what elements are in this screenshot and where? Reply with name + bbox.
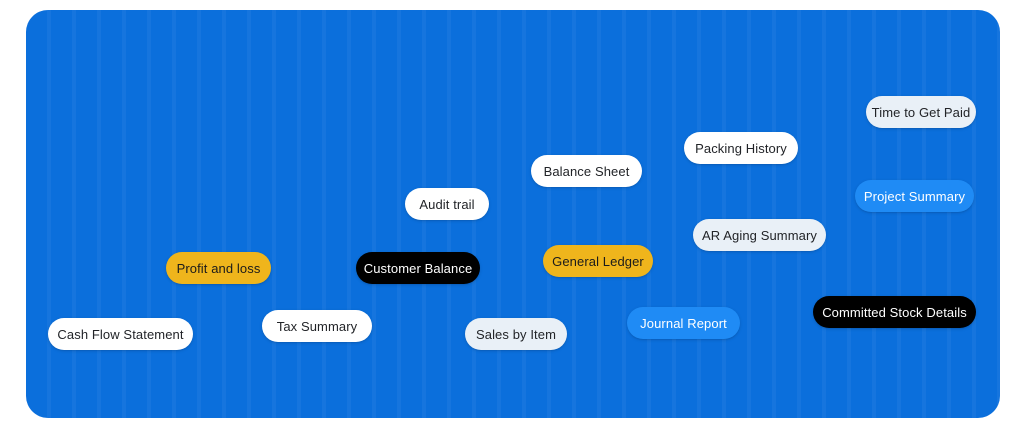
report-pill-journal-report[interactable]: Journal Report [627,307,740,339]
reports-tag-cloud-panel: Time to Get PaidPacking HistoryBalance S… [26,10,1000,418]
report-pill-committed-stock-details[interactable]: Committed Stock Details [813,296,976,328]
report-pill-label: AR Aging Summary [702,229,817,242]
report-pill-tax-summary[interactable]: Tax Summary [262,310,372,342]
report-pill-label: Project Summary [864,190,965,203]
report-pill-balance-sheet[interactable]: Balance Sheet [531,155,642,187]
report-pill-label: Time to Get Paid [872,106,971,119]
report-pill-ar-aging-summary[interactable]: AR Aging Summary [693,219,826,251]
report-pill-label: Customer Balance [364,262,473,275]
report-pill-profit-and-loss[interactable]: Profit and loss [166,252,271,284]
screenshot-canvas: Time to Get PaidPacking HistoryBalance S… [0,0,1024,428]
report-pill-label: Tax Summary [277,320,358,333]
report-pill-cash-flow-statement[interactable]: Cash Flow Statement [48,318,193,350]
panel-stripe-pattern [26,10,1000,418]
report-pill-time-to-get-paid[interactable]: Time to Get Paid [866,96,976,128]
report-pill-label: Sales by Item [476,328,556,341]
report-pill-sales-by-item[interactable]: Sales by Item [465,318,567,350]
report-pill-packing-history[interactable]: Packing History [684,132,798,164]
report-pill-label: Packing History [695,142,787,155]
report-pill-project-summary[interactable]: Project Summary [855,180,974,212]
report-pill-label: Balance Sheet [544,165,630,178]
report-pill-customer-balance[interactable]: Customer Balance [356,252,480,284]
report-pill-audit-trail[interactable]: Audit trail [405,188,489,220]
report-pill-general-ledger[interactable]: General Ledger [543,245,653,277]
report-pill-label: Cash Flow Statement [57,328,183,341]
report-pill-label: Profit and loss [177,262,261,275]
report-pill-label: Audit trail [419,198,474,211]
report-pill-label: Journal Report [640,317,727,330]
report-pill-label: General Ledger [552,255,644,268]
report-pill-label: Committed Stock Details [822,306,967,319]
